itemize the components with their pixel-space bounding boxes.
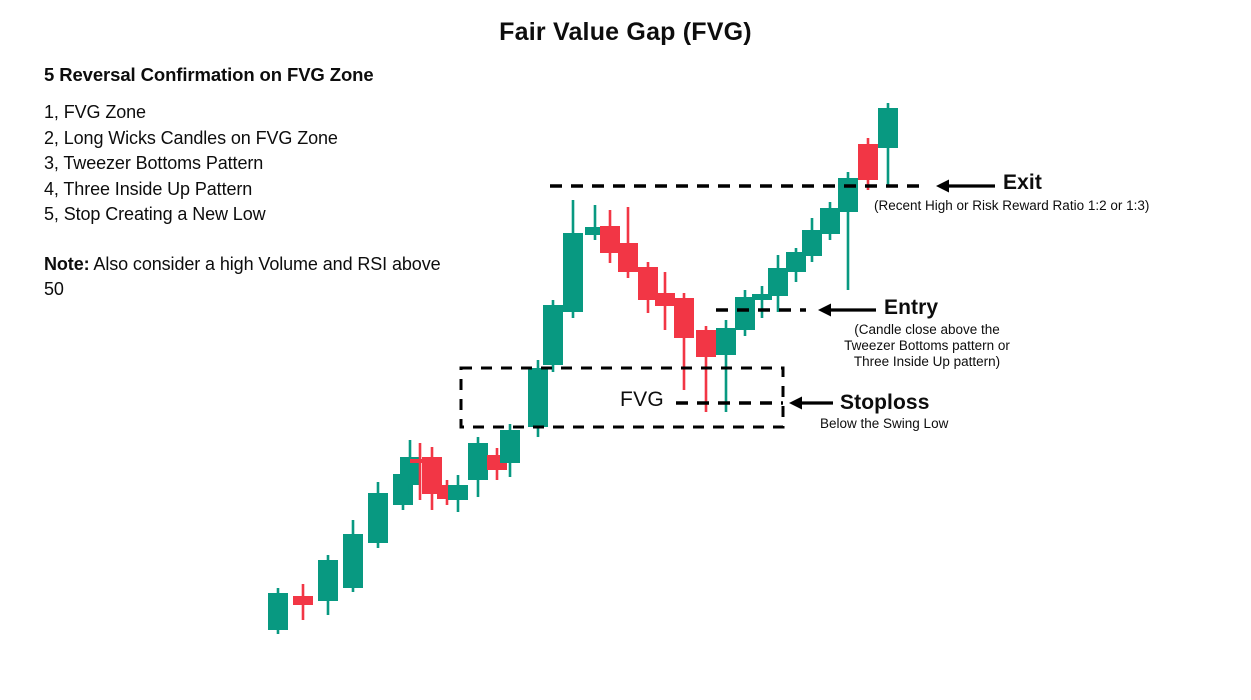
entry-arrow-head [818, 304, 831, 317]
candle-body [618, 243, 638, 272]
candle-body [858, 144, 878, 180]
candle [448, 475, 468, 512]
candlestick-plot [0, 0, 1251, 700]
candle [543, 300, 563, 372]
candle-wick [761, 286, 764, 318]
candle [422, 447, 442, 510]
candle [293, 584, 313, 620]
candle [716, 320, 736, 412]
entry-sublabel-line3: Three Inside Up pattern) [836, 354, 1018, 370]
stoploss-sublabel: Below the Swing Low [820, 416, 948, 432]
candle-body [820, 208, 840, 234]
candle-body [655, 293, 675, 306]
exit-arrow-head [936, 180, 949, 193]
candle [600, 210, 620, 263]
candle-body [448, 485, 468, 500]
candle-body [716, 328, 736, 355]
candle-body [878, 108, 898, 148]
candle-body [674, 298, 694, 338]
candle [878, 103, 898, 185]
candle [528, 360, 548, 437]
candle-wick [419, 443, 422, 500]
candle-body [500, 430, 520, 463]
entry-sublabel-line2: Tweezer Bottoms pattern or [836, 338, 1018, 354]
entry-sublabel: (Candle close above the Tweezer Bottoms … [836, 322, 1018, 370]
candle [820, 202, 840, 240]
candle-body [343, 534, 363, 588]
candle [674, 293, 694, 390]
candle [368, 482, 388, 548]
exit-label: Exit [1003, 171, 1042, 195]
candle [318, 555, 338, 615]
exit-arrow [936, 180, 995, 193]
entry-arrow [818, 304, 876, 317]
fvg-zone-label: FVG [620, 388, 664, 412]
candle [343, 520, 363, 592]
stoploss-label: Stoploss [840, 391, 929, 415]
exit-sublabel: (Recent High or Risk Reward Ratio 1:2 or… [874, 198, 1149, 214]
candle [858, 138, 878, 190]
stoploss-arrow-head [789, 397, 802, 410]
entry-sublabel-line1: (Candle close above the [836, 322, 1018, 338]
candle-body [318, 560, 338, 601]
candle-body [563, 233, 583, 312]
candle-body [696, 330, 716, 357]
candle-body [802, 230, 822, 256]
candle [802, 218, 822, 262]
candle [268, 588, 288, 634]
candle-body [293, 596, 313, 605]
candle-body [735, 297, 755, 330]
candle-body [468, 443, 488, 480]
stoploss-arrow [789, 397, 833, 410]
candle-body [543, 305, 563, 365]
fvg-diagram: Fair Value Gap (FVG) 5 Reversal Confirma… [0, 0, 1251, 700]
candle [563, 200, 583, 318]
candle-body [268, 593, 288, 630]
candle-body [838, 178, 858, 212]
candle-body [768, 268, 788, 296]
candle-body [528, 368, 548, 427]
candle-body [600, 226, 620, 253]
candle [768, 255, 788, 312]
entry-label: Entry [884, 296, 938, 320]
candle [618, 207, 638, 278]
candle [838, 172, 858, 290]
candle-body [368, 493, 388, 543]
candle [468, 437, 488, 497]
